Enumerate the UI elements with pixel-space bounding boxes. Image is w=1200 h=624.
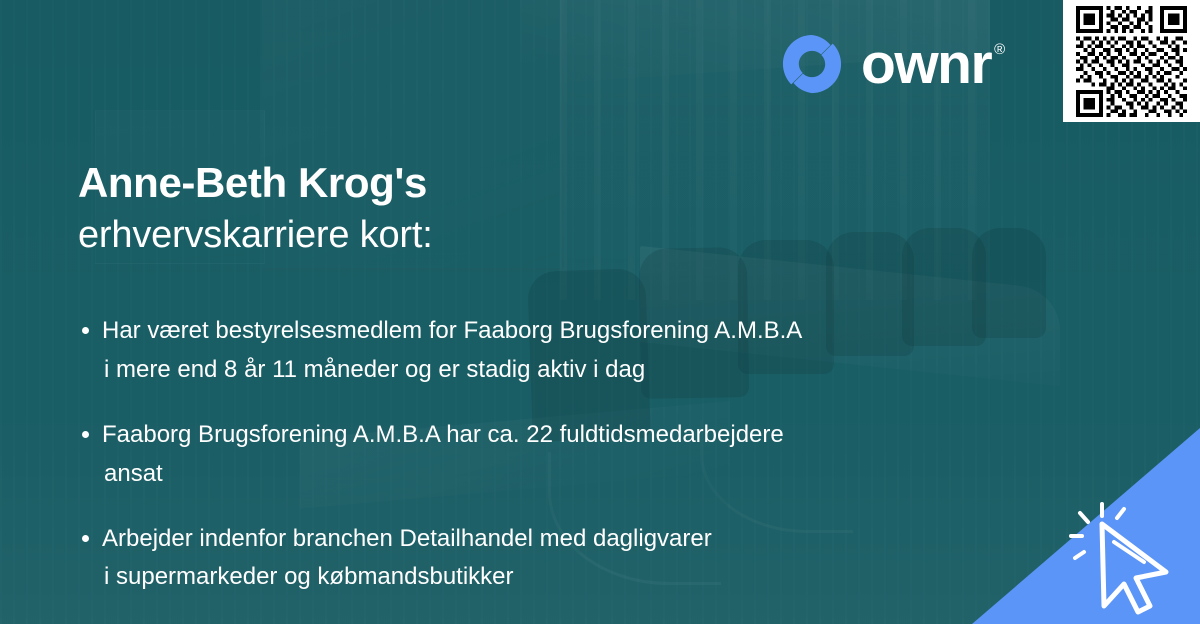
title-subtitle: erhvervskarriere kort: (78, 212, 718, 260)
qr-code[interactable] (1063, 0, 1200, 122)
fact-line-2: i mere end 8 år 11 måneder og er stadig … (102, 351, 998, 390)
qr-code-icon (1076, 6, 1187, 117)
page-title: Anne-Beth Krog's erhvervskarriere kort: (78, 158, 718, 259)
ownr-circular-mark-icon (781, 33, 843, 95)
fact-line-2: i supermarkeder og købmandsbutikker (102, 558, 998, 597)
list-item: Har været bestyrelsesmedlem for Faaborg … (78, 312, 998, 390)
ownr-wordmark-text: ownr (861, 36, 991, 93)
business-card-graphic: ownr ® (0, 0, 1200, 624)
fact-line-1: Faaborg Brugsforening A.M.B.A har ca. 22… (102, 416, 998, 455)
bullet-dot-icon (82, 431, 89, 438)
registered-trademark-icon: ® (994, 42, 1004, 57)
list-item: Faaborg Brugsforening A.M.B.A har ca. 22… (78, 416, 998, 494)
fact-line-1: Har været bestyrelsesmedlem for Faaborg … (102, 312, 998, 351)
career-facts-list: Har været bestyrelsesmedlem for Faaborg … (78, 312, 998, 597)
ownr-logo: ownr ® (781, 33, 1004, 95)
bullet-dot-icon (82, 535, 89, 542)
fact-line-1: Arbejder indenfor branchen Detailhandel … (102, 520, 998, 559)
list-item: Arbejder indenfor branchen Detailhandel … (78, 520, 998, 598)
click-cursor-icon (1062, 496, 1192, 618)
ownr-wordmark: ownr ® (861, 36, 1004, 93)
fact-line-2: ansat (102, 455, 998, 494)
bullet-dot-icon (82, 327, 89, 334)
title-person-name: Anne-Beth Krog's (78, 158, 718, 208)
